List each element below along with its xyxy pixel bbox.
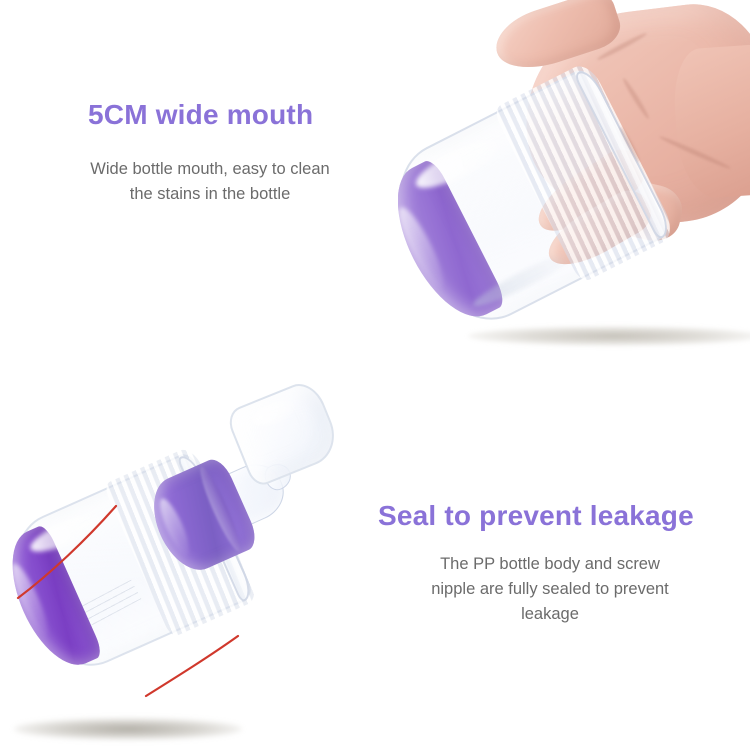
- section-one-body-line-1: Wide bottle mouth, easy to clean: [50, 157, 370, 182]
- exploded-bottle-photo: Exploded view of baby bottle: clear PP b…: [10, 378, 370, 728]
- section-two-body-line-1: The PP bottle body and screw: [375, 552, 725, 577]
- section-one-body-line-2: the stains in the bottle: [50, 182, 370, 207]
- section-two-body-line-3: leakage: [375, 602, 725, 627]
- bottle-base-highlight: [6, 560, 54, 640]
- section-two-heading: Seal to prevent leakage: [378, 500, 694, 532]
- hand-bottle-photo-caption: Hand inserting fingers into the wide mou…: [398, 0, 399, 1]
- section-one-body-text: Wide bottle mouth, easy to clean the sta…: [50, 157, 370, 207]
- hand-holding-bottle-photo: Hand inserting fingers into the wide mou…: [398, 0, 750, 340]
- seal-arc-lower-icon: [146, 636, 238, 696]
- infographic-page: 5CM wide mouth Wide bottle mouth, easy t…: [0, 0, 750, 750]
- section-two-body-line-2: nipple are fully sealed to prevent: [375, 577, 725, 602]
- exploded-bottle-photo-caption: Exploded view of baby bottle: clear PP b…: [10, 378, 11, 379]
- section-one-heading: 5CM wide mouth: [88, 99, 313, 131]
- bottle-base-highlight: [398, 203, 451, 292]
- section-two-body-text: The PP bottle body and screw nipple are …: [375, 552, 725, 627]
